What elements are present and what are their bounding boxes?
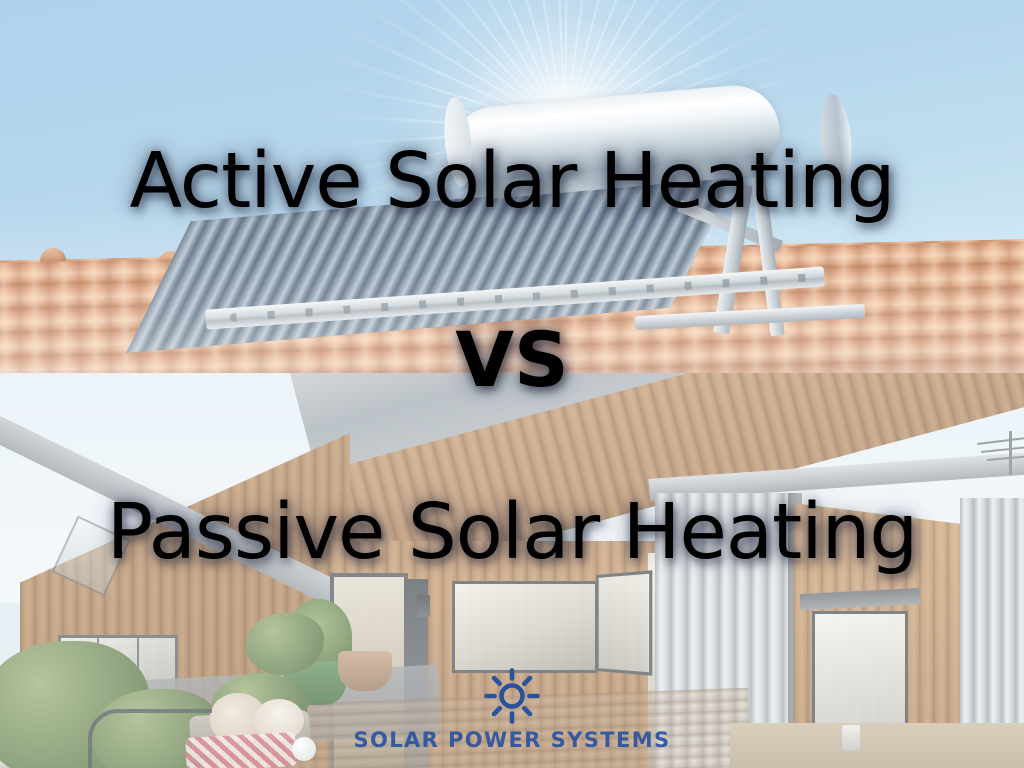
brand-wordmark: SOLAR POWER SYSTEMS (0, 728, 1024, 752)
tv-antenna (975, 431, 1024, 475)
awning-window-open-sash (596, 570, 652, 676)
frame-foot-rail (635, 304, 865, 330)
comparison-banner: Active Solar Heating VS Passive Solar He… (0, 0, 1024, 768)
wall-light (417, 595, 430, 617)
awning-window (452, 581, 598, 673)
solar-storage-tank (447, 82, 784, 202)
sun-icon (484, 668, 540, 724)
brand-logo: SOLAR POWER SYSTEMS (0, 668, 1024, 752)
solar-thermal-collector-assembly (205, 80, 845, 340)
active-solar-photo (0, 0, 1024, 373)
